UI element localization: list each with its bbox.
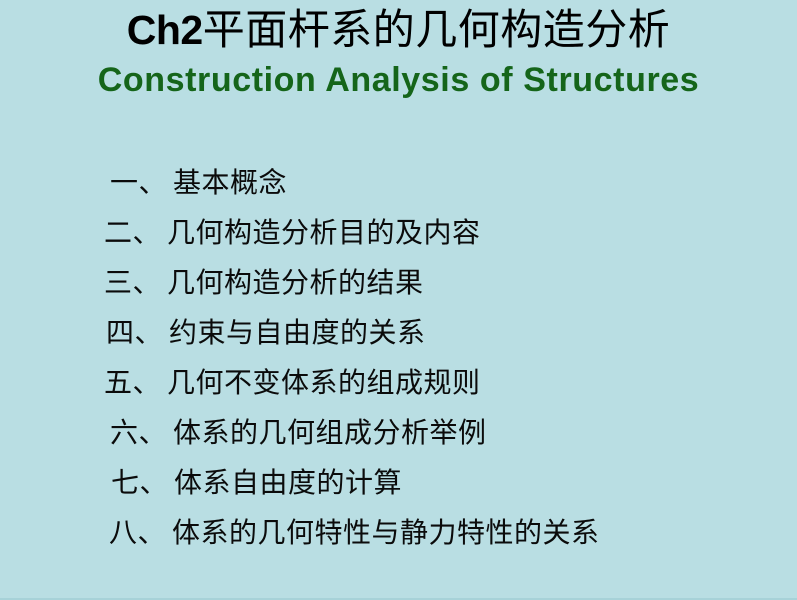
agenda-item-4-label: 约束与自由度的关系 [169,316,426,349]
agenda-item-8-number: 八、 [109,516,166,549]
agenda-item-5: 五、几何不变体系的组成规则 [102,358,792,408]
presentation-slide: Ch2平面杆系的几何构造分析 Construction Analysis of … [0,0,797,600]
agenda-item-6-label: 体系的几何组成分析举例 [173,416,487,449]
agenda-item-6: 六、体系的几何组成分析举例 [102,408,792,458]
agenda-item-5-label: 几何不变体系的组成规则 [167,366,481,399]
agenda-item-1: 一、基本概念 [102,158,792,208]
agenda-item-6-number: 六、 [110,416,167,449]
slide-title: Ch2平面杆系的几何构造分析 [0,6,797,54]
agenda-item-4: 四、约束与自由度的关系 [102,308,792,358]
agenda-item-2-label: 几何构造分析目的及内容 [167,216,481,249]
agenda-item-5-number: 五、 [104,366,161,399]
agenda-item-8-label: 体系的几何特性与静力特性的关系 [172,516,600,549]
slide-title-prefix: Ch2 [127,7,203,53]
agenda-item-8: 八、体系的几何特性与静力特性的关系 [102,508,792,558]
agenda-list: 一、基本概念 二、几何构造分析目的及内容 三、几何构造分析的结果 四、约束与自由… [102,158,792,558]
slide-title-block: Ch2平面杆系的几何构造分析 Construction Analysis of … [0,6,797,99]
slide-subtitle: Construction Analysis of Structures [0,62,797,99]
slide-title-main: 平面杆系的几何构造分析 [203,5,671,54]
agenda-item-2: 二、几何构造分析目的及内容 [102,208,792,258]
agenda-item-7: 七、体系自由度的计算 [102,458,792,508]
agenda-item-1-number: 一、 [110,166,167,199]
agenda-item-3-label: 几何构造分析的结果 [167,266,424,299]
agenda-item-2-number: 二、 [104,216,161,249]
agenda-item-7-label: 体系自由度的计算 [174,466,402,499]
agenda-item-1-label: 基本概念 [173,166,287,199]
agenda-item-3: 三、几何构造分析的结果 [102,258,792,308]
agenda-item-3-number: 三、 [104,266,161,299]
agenda-item-7-number: 七、 [111,466,168,499]
agenda-item-4-number: 四、 [106,316,163,349]
